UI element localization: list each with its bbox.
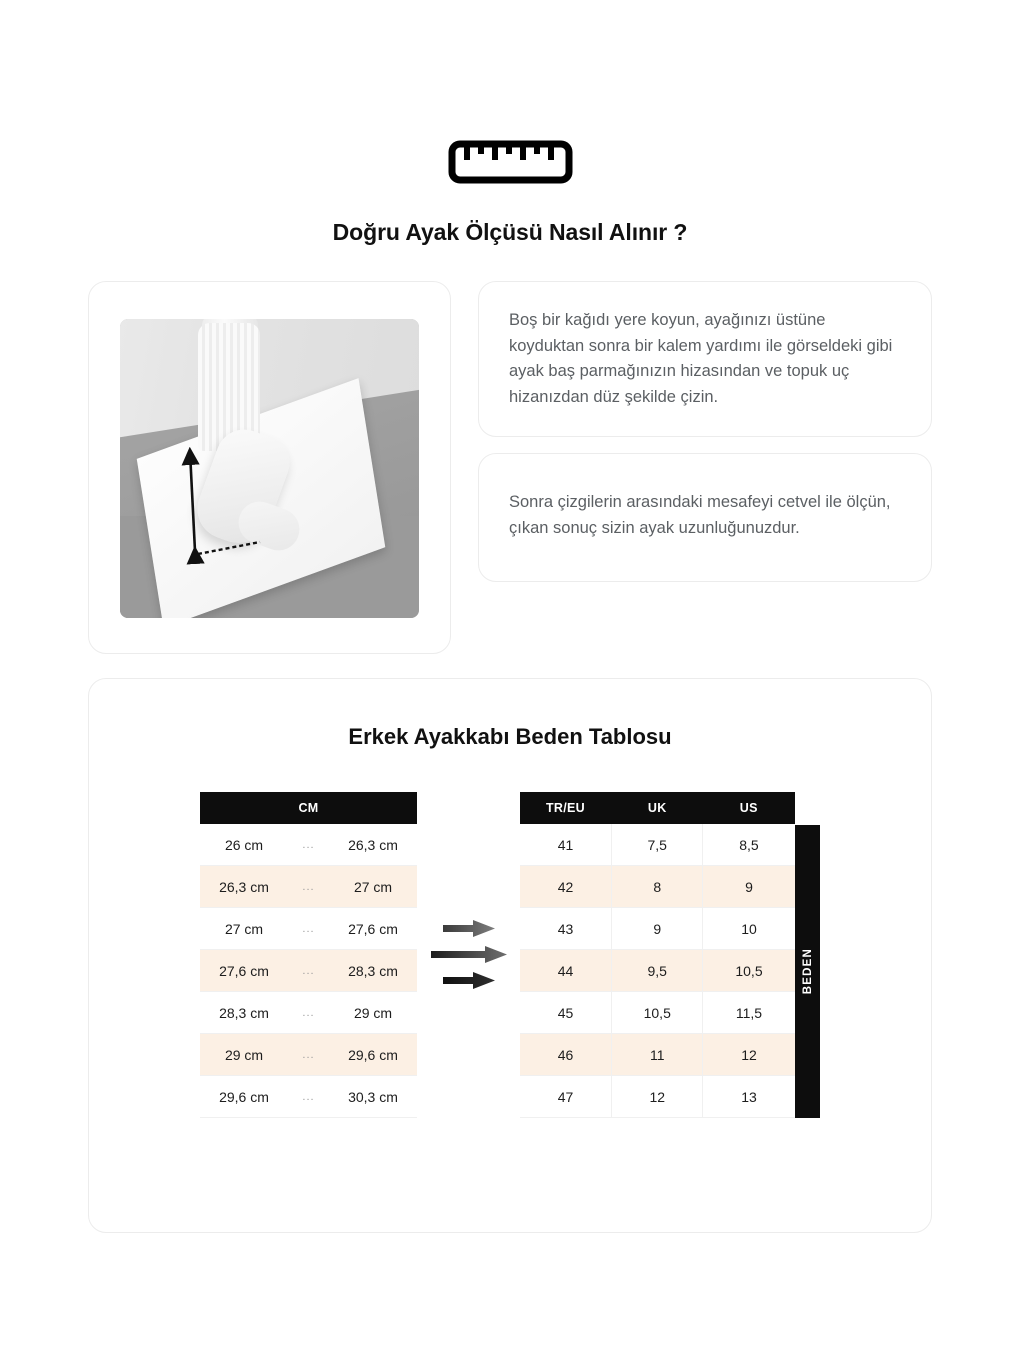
arrow-right-icon-1 bbox=[443, 920, 495, 937]
cm-range-dots: ... bbox=[288, 992, 329, 1034]
cm-to-cell: 26,3 cm bbox=[329, 824, 417, 866]
table-row: 4289 bbox=[520, 866, 795, 908]
tr-eu-column-header: TR/EU bbox=[520, 792, 612, 824]
table-row: 26 cm...26,3 cm bbox=[200, 824, 417, 866]
instruction-text-2: Sonra çizgilerin arasındaki mesafeyi cet… bbox=[509, 490, 901, 541]
us-column-header: US bbox=[703, 792, 795, 824]
uk-cell: 7,5 bbox=[612, 824, 703, 866]
cm-to-cell: 29,6 cm bbox=[329, 1034, 417, 1076]
cm-from-cell: 28,3 cm bbox=[200, 992, 288, 1034]
page-title: Doğru Ayak Ölçüsü Nasıl Alınır ? bbox=[0, 219, 1020, 246]
cm-to-cell: 27 cm bbox=[329, 866, 417, 908]
size-chart-card: Erkek Ayakkabı Beden Tablosu CM 26 cm...… bbox=[88, 678, 932, 1233]
us-cell: 10 bbox=[703, 908, 795, 950]
table-row: 461112 bbox=[520, 1034, 795, 1076]
us-cell: 12 bbox=[703, 1034, 795, 1076]
tr-eu-cell: 43 bbox=[520, 908, 612, 950]
instruction-card-1: Boş bir kağıdı yere koyun, ayağınızı üst… bbox=[478, 281, 932, 437]
cm-to-cell: 27,6 cm bbox=[329, 908, 417, 950]
arrow-right-icon-3 bbox=[443, 972, 495, 989]
cm-to-cell: 30,3 cm bbox=[329, 1076, 417, 1118]
table-row: 449,510,5 bbox=[520, 950, 795, 992]
us-cell: 10,5 bbox=[703, 950, 795, 992]
foot-measurement-photo bbox=[120, 319, 419, 618]
cm-table-header-row: CM bbox=[200, 792, 417, 824]
size-tables-wrap: CM 26 cm...26,3 cm26,3 cm...27 cm27 cm..… bbox=[89, 792, 931, 1118]
cm-range-dots: ... bbox=[288, 1076, 329, 1118]
tr-eu-cell: 42 bbox=[520, 866, 612, 908]
tr-eu-cell: 41 bbox=[520, 824, 612, 866]
uk-cell: 9 bbox=[612, 908, 703, 950]
instruction-card-2: Sonra çizgilerin arasındaki mesafeyi cet… bbox=[478, 453, 932, 582]
cm-range-dots: ... bbox=[288, 1034, 329, 1076]
size-table-header-row: TR/EU UK US bbox=[520, 792, 795, 824]
size-table-body: 417,58,5428943910449,510,54510,511,54611… bbox=[520, 824, 795, 1118]
beden-vertical-label: BEDEN bbox=[795, 825, 820, 1118]
uk-cell: 9,5 bbox=[612, 950, 703, 992]
tr-eu-cell: 45 bbox=[520, 992, 612, 1034]
cm-range-dots: ... bbox=[288, 950, 329, 992]
us-cell: 11,5 bbox=[703, 992, 795, 1034]
uk-cell: 10,5 bbox=[612, 992, 703, 1034]
size-guide-page: Doğru Ayak Ölçüsü Nasıl Alınır ? bbox=[0, 0, 1020, 1360]
arrows-group bbox=[417, 792, 520, 989]
cm-from-cell: 27 cm bbox=[200, 908, 288, 950]
table-row: 417,58,5 bbox=[520, 824, 795, 866]
beden-label-text: BEDEN bbox=[802, 948, 814, 994]
arrow-right-icon-2 bbox=[431, 946, 507, 963]
table-row: 28,3 cm...29 cm bbox=[200, 992, 417, 1034]
size-chart-title: Erkek Ayakkabı Beden Tablosu bbox=[89, 724, 931, 750]
table-row: 29 cm...29,6 cm bbox=[200, 1034, 417, 1076]
us-cell: 9 bbox=[703, 866, 795, 908]
table-row: 27 cm...27,6 cm bbox=[200, 908, 417, 950]
cm-table: CM 26 cm...26,3 cm26,3 cm...27 cm27 cm..… bbox=[200, 792, 417, 1118]
illustration-card bbox=[88, 281, 451, 654]
us-cell: 13 bbox=[703, 1076, 795, 1118]
table-row: 4510,511,5 bbox=[520, 992, 795, 1034]
table-row: 27,6 cm...28,3 cm bbox=[200, 950, 417, 992]
instructions-column: Boş bir kağıdı yere koyun, ayağınızı üst… bbox=[478, 281, 932, 582]
ruler-icon-wrap bbox=[0, 140, 1020, 184]
measurement-arrow-icon bbox=[120, 319, 419, 618]
uk-cell: 12 bbox=[612, 1076, 703, 1118]
size-table-wrap: TR/EU UK US 417,58,5428943910449,510,545… bbox=[520, 792, 820, 1118]
table-row: 26,3 cm...27 cm bbox=[200, 866, 417, 908]
cm-range-dots: ... bbox=[288, 908, 329, 950]
tr-eu-cell: 44 bbox=[520, 950, 612, 992]
cm-from-cell: 29 cm bbox=[200, 1034, 288, 1076]
cm-from-cell: 26 cm bbox=[200, 824, 288, 866]
cm-from-cell: 29,6 cm bbox=[200, 1076, 288, 1118]
tr-eu-cell: 47 bbox=[520, 1076, 612, 1118]
cm-to-cell: 29 cm bbox=[329, 992, 417, 1034]
ruler-icon bbox=[448, 140, 573, 184]
us-cell: 8,5 bbox=[703, 824, 795, 866]
uk-column-header: UK bbox=[612, 792, 703, 824]
instruction-text-1: Boş bir kağıdı yere koyun, ayağınızı üst… bbox=[509, 308, 901, 410]
cm-table-body: 26 cm...26,3 cm26,3 cm...27 cm27 cm...27… bbox=[200, 824, 417, 1118]
cm-range-dots: ... bbox=[288, 866, 329, 908]
uk-cell: 8 bbox=[612, 866, 703, 908]
cm-from-cell: 27,6 cm bbox=[200, 950, 288, 992]
table-row: 29,6 cm...30,3 cm bbox=[200, 1076, 417, 1118]
table-row: 471213 bbox=[520, 1076, 795, 1118]
cm-column-header: CM bbox=[200, 792, 417, 824]
uk-cell: 11 bbox=[612, 1034, 703, 1076]
cm-from-cell: 26,3 cm bbox=[200, 866, 288, 908]
tr-eu-cell: 46 bbox=[520, 1034, 612, 1076]
cm-range-dots: ... bbox=[288, 824, 329, 866]
size-table: TR/EU UK US 417,58,5428943910449,510,545… bbox=[520, 792, 795, 1118]
cm-to-cell: 28,3 cm bbox=[329, 950, 417, 992]
table-row: 43910 bbox=[520, 908, 795, 950]
